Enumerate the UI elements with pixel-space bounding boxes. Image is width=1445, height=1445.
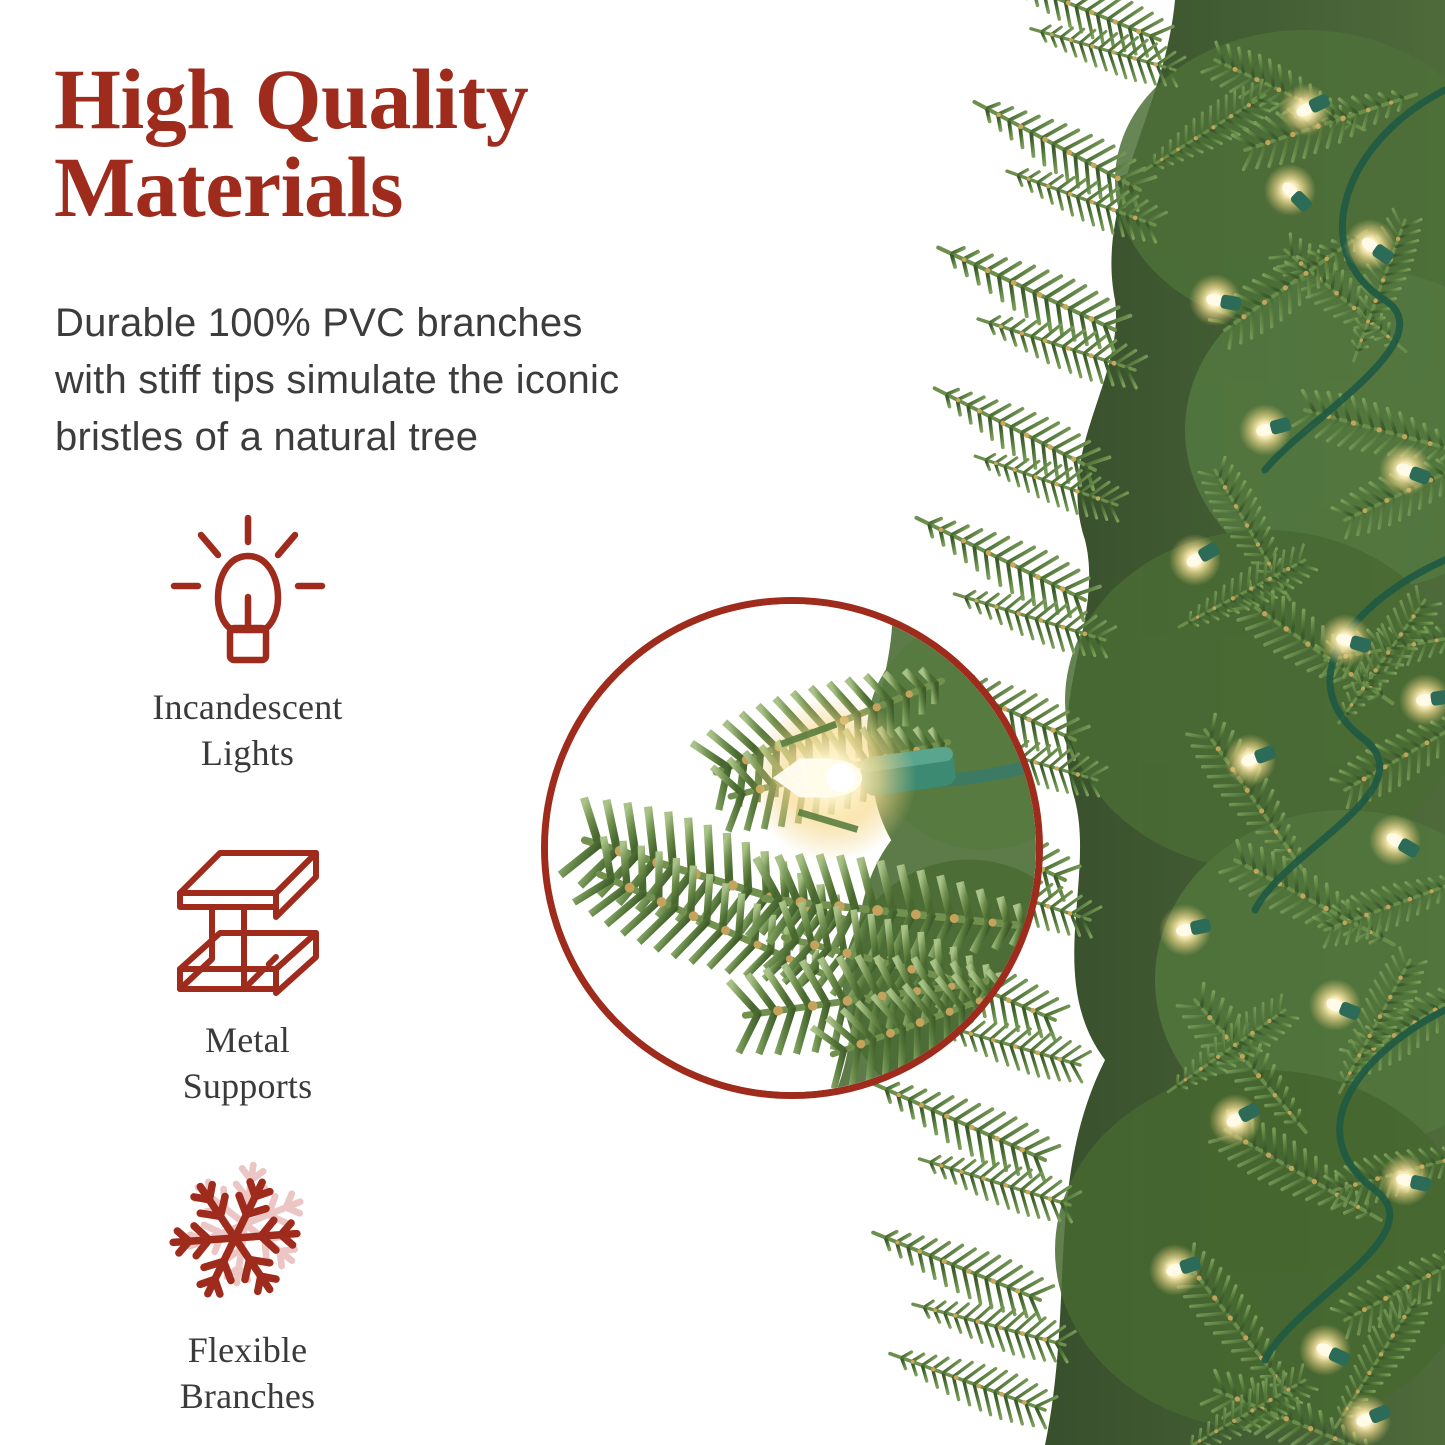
subtitle-line-3: bristles of a natural tree [55, 409, 785, 466]
light-bulb-icon [163, 505, 333, 670]
feature-label-flexible-branches: Flexible Branches [180, 1327, 316, 1419]
snowflake-flex-icon [163, 1148, 333, 1313]
feature-flexible-branches: Flexible Branches [120, 1148, 375, 1419]
subtitle-line-2: with stiff tips simulate the iconic [55, 352, 785, 409]
feature-label-line-1: Flexible [180, 1327, 316, 1373]
feature-label-line-2: Branches [180, 1373, 316, 1419]
magnified-detail-callout [541, 597, 1043, 1099]
callout-photo [541, 597, 1043, 1099]
subtitle-description: Durable 100% PVC branches with stiff tip… [55, 295, 785, 465]
feature-incandescent-lights: Incandescent Lights [120, 505, 375, 776]
subtitle-line-1: Durable 100% PVC branches [55, 295, 785, 352]
feature-label-incandescent-lights: Incandescent Lights [152, 684, 342, 776]
i-beam-icon [163, 838, 333, 1003]
headline-line-1: High Quality [54, 56, 754, 144]
page-title: High Quality Materials [54, 56, 754, 231]
feature-label-line-2: Supports [183, 1063, 313, 1109]
product-feature-graphic: High Quality Materials Durable 100% PVC … [0, 0, 1445, 1445]
feature-metal-supports: Metal Supports [120, 838, 375, 1109]
feature-label-line-1: Incandescent [152, 684, 342, 730]
feature-label-line-2: Lights [152, 730, 342, 776]
feature-label-metal-supports: Metal Supports [183, 1017, 313, 1109]
feature-label-line-1: Metal [183, 1017, 313, 1063]
headline-line-2: Materials [54, 144, 754, 232]
